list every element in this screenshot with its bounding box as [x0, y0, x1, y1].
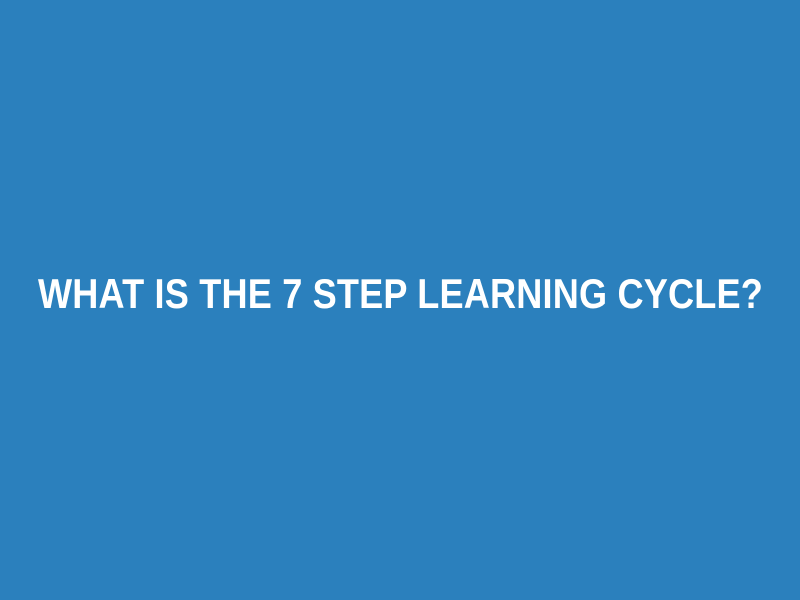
article-header-banner: WHAT IS THE 7 STEP LEARNING CYCLE? [0, 0, 800, 600]
headline-container: WHAT IS THE 7 STEP LEARNING CYCLE? [0, 268, 800, 320]
page-title: WHAT IS THE 7 STEP LEARNING CYCLE? [38, 272, 763, 316]
